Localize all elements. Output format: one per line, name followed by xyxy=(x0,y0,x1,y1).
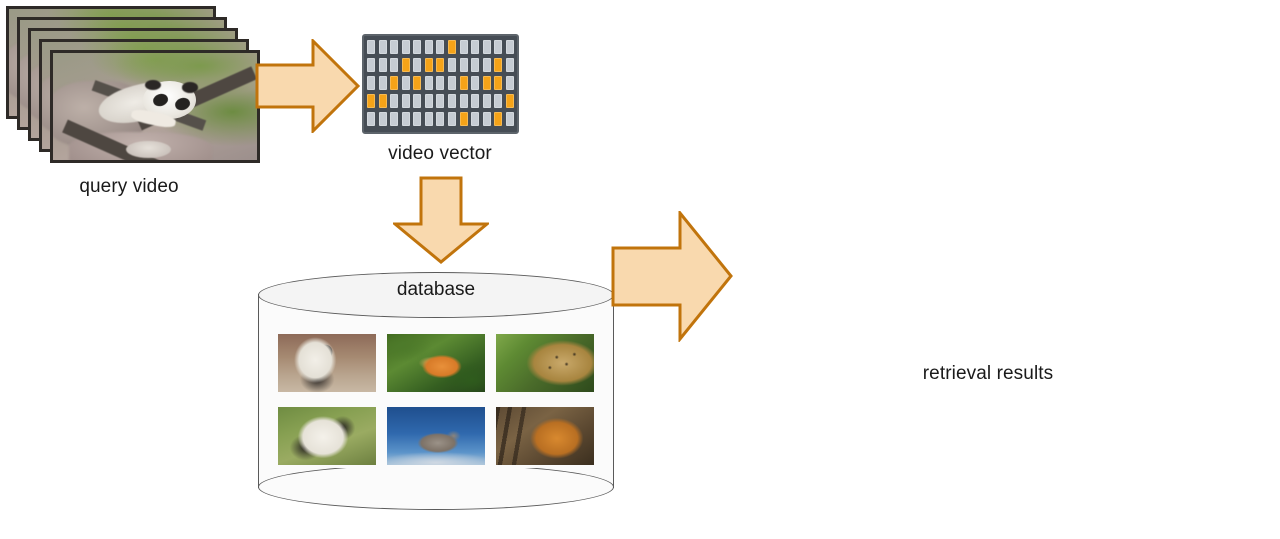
video-vector-cell xyxy=(413,40,421,54)
video-vector-cell xyxy=(402,94,410,108)
cylinder-bottom-ellipse xyxy=(258,464,614,510)
video-vector-cell xyxy=(425,94,433,108)
video-vector-cell-active xyxy=(436,58,444,72)
video-vector-cell xyxy=(402,112,410,126)
video-vector-cell xyxy=(471,112,479,126)
video-vector-label: video vector xyxy=(345,143,535,165)
video-vector-cell xyxy=(460,58,468,72)
video-vector-cell xyxy=(390,58,398,72)
video-vector-cell xyxy=(413,112,421,126)
video-vector-cell xyxy=(413,58,421,72)
database-thumbnail-grid xyxy=(278,334,594,465)
video-vector-cell-active xyxy=(402,58,410,72)
panda-thumbnail-1 xyxy=(278,334,376,392)
video-vector-row xyxy=(367,112,514,126)
video-vector-cell-active xyxy=(494,58,502,72)
video-vector-cell xyxy=(460,40,468,54)
video-vector-cell xyxy=(471,40,479,54)
video-vector-cell xyxy=(425,112,433,126)
video-vector-cell xyxy=(402,76,410,90)
arrow-vector-to-database xyxy=(393,176,489,264)
video-vector-cell-active xyxy=(483,76,491,90)
video-vector-cell xyxy=(448,112,456,126)
video-vector-cell xyxy=(367,40,375,54)
video-vector-cell-active xyxy=(379,94,387,108)
video-vector-cell xyxy=(506,112,514,126)
video-vector-row xyxy=(367,58,514,72)
video-vector-cell-active xyxy=(494,76,502,90)
video-vector-cell xyxy=(460,94,468,108)
video-vector-cell xyxy=(425,76,433,90)
video-vector-cell xyxy=(494,40,502,54)
wolf-thumbnail xyxy=(387,407,485,465)
video-vector-cell xyxy=(413,94,421,108)
video-vector-cell xyxy=(448,58,456,72)
video-vector-cell xyxy=(390,112,398,126)
panda-scene xyxy=(53,53,257,160)
results-table-wrapper: query video ref video repeated segments … xyxy=(734,201,1280,343)
video-vector-cell xyxy=(471,94,479,108)
video-vector-cell xyxy=(436,40,444,54)
retrieval-results-label: retrieval results xyxy=(818,363,1158,385)
video-vector-cell xyxy=(506,40,514,54)
video-vector-cell xyxy=(379,58,387,72)
tiger-thumbnail-1 xyxy=(387,334,485,392)
video-vector-cell-active xyxy=(506,94,514,108)
video-vector-cell-active xyxy=(367,94,375,108)
video-vector-cell xyxy=(379,112,387,126)
query-video-stack xyxy=(6,6,276,164)
video-vector-cell xyxy=(425,40,433,54)
video-vector-cell xyxy=(494,94,502,108)
video-vector-cell-active xyxy=(425,58,433,72)
video-vector-cell xyxy=(483,94,491,108)
video-vector-cell xyxy=(379,40,387,54)
video-vector-cell xyxy=(390,94,398,108)
tiger-thumbnail-2 xyxy=(496,407,594,465)
video-frame-front xyxy=(50,50,260,163)
database-cylinder: database xyxy=(258,272,614,510)
video-vector-cell xyxy=(483,40,491,54)
video-vector-cell-active xyxy=(494,112,502,126)
video-vector-cell xyxy=(506,76,514,90)
video-vector-row xyxy=(367,94,514,108)
database-label: database xyxy=(258,279,614,301)
leopard-thumbnail xyxy=(496,334,594,392)
video-vector-cell xyxy=(390,40,398,54)
panda-thumbnail-2 xyxy=(278,407,376,465)
video-vector-cell-active xyxy=(460,76,468,90)
video-vector-row xyxy=(367,40,514,54)
video-vector-row xyxy=(367,76,514,90)
video-vector-cell xyxy=(379,76,387,90)
video-vector-cell xyxy=(471,58,479,72)
video-vector-cell-active xyxy=(390,76,398,90)
video-vector-cell xyxy=(402,40,410,54)
video-vector-cell xyxy=(367,76,375,90)
arrow-database-to-results xyxy=(611,211,733,342)
video-vector-cell xyxy=(367,58,375,72)
video-vector-cell xyxy=(448,94,456,108)
video-vector-cell xyxy=(483,58,491,72)
video-vector-cell xyxy=(436,112,444,126)
video-vector-cell xyxy=(471,76,479,90)
arrow-query-to-vector xyxy=(255,39,360,133)
video-vector-cell-active xyxy=(448,40,456,54)
video-vector-cell xyxy=(436,94,444,108)
video-vector-cell xyxy=(483,112,491,126)
video-vector-cell xyxy=(448,76,456,90)
video-vector-cell-active xyxy=(460,112,468,126)
video-vector-cell xyxy=(436,76,444,90)
video-vector-cell xyxy=(367,112,375,126)
video-vector-grid xyxy=(362,34,519,134)
video-vector-cell xyxy=(506,58,514,72)
video-vector-cell-active xyxy=(413,76,421,90)
query-video-label: query video xyxy=(0,176,258,198)
